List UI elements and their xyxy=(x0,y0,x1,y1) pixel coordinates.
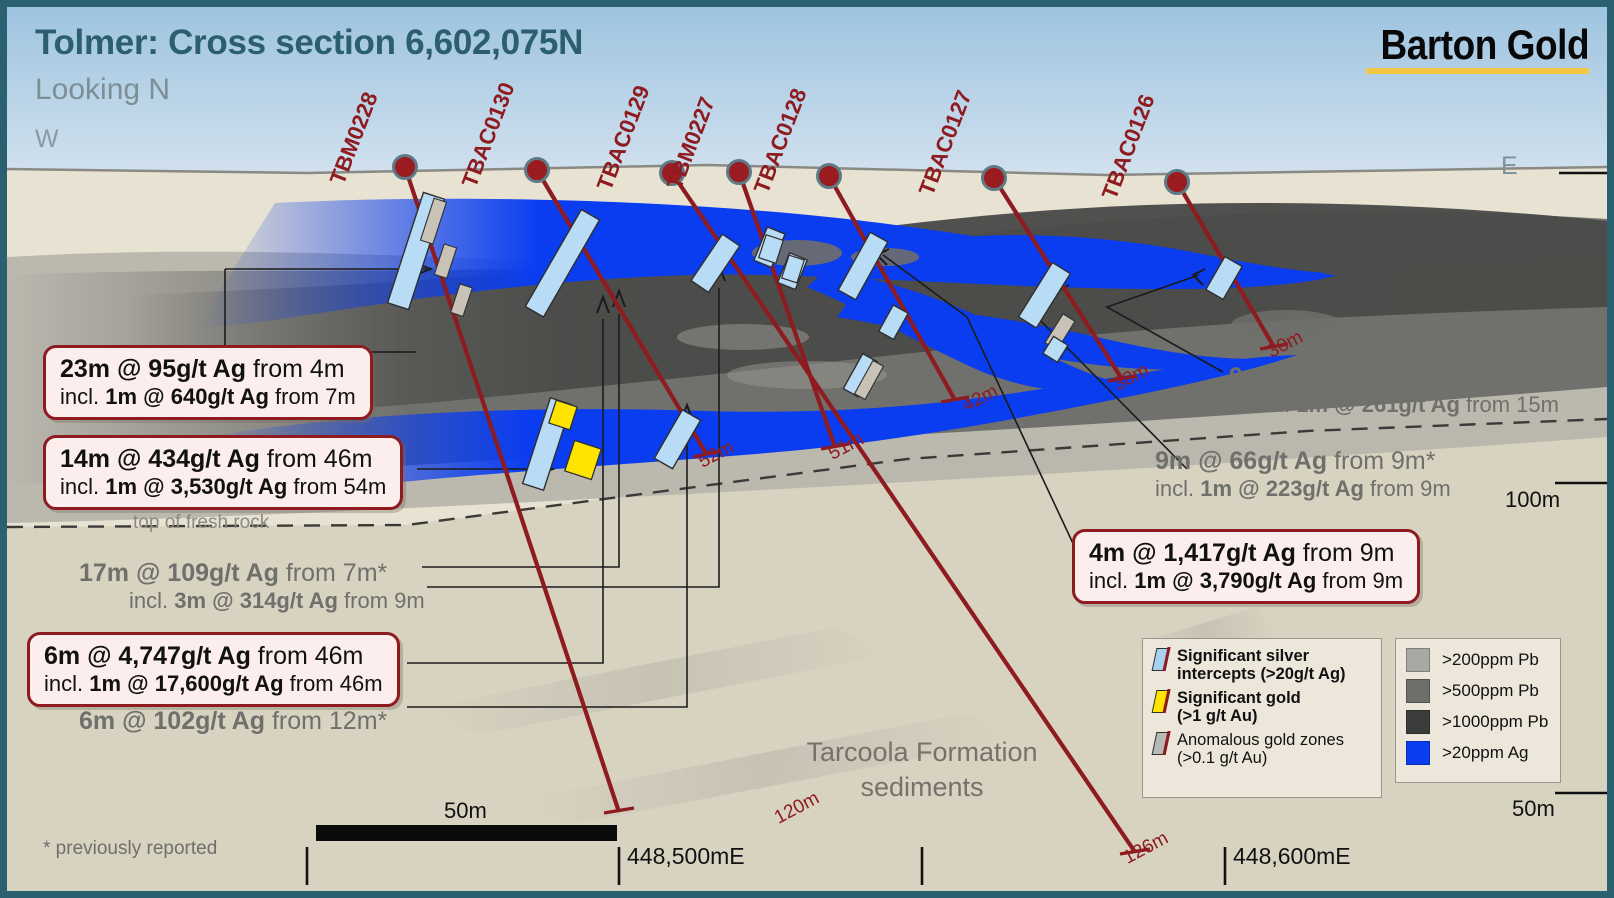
formation-label-line1: Tarcoola Formation xyxy=(797,735,1047,770)
gray-1-bold: 17m @ 109g/t Ag xyxy=(79,559,279,587)
gray-annotation-4: 9m @ 66g/t Ag from 9m* incl. 1m @ 223g/t… xyxy=(1155,447,1451,501)
swatch-500ppm-pb xyxy=(1406,679,1430,703)
callout-3-pre: incl. xyxy=(44,671,89,696)
callout-4-incl-bold: 1m @ 3,790g/t Ag xyxy=(1134,568,1316,593)
gray-annotation-3: 9m @ 59g/t Ag from 15m* incl. 1m @ 261g/… xyxy=(1229,363,1559,417)
gray-3-pre: incl. xyxy=(1251,392,1296,417)
cross-section-figure: Tolmer: Cross section 6,602,075N Looking… xyxy=(0,0,1614,898)
legend-label-1000pb: >1000ppm Pb xyxy=(1442,712,1548,732)
legend-item-anomalous: Anomalous gold zones (>0.1 g/t Au) xyxy=(1153,731,1371,768)
west-direction-label: W xyxy=(35,125,59,154)
callout-2-rest: from 46m xyxy=(260,445,373,473)
legend-gold-line1: Significant gold xyxy=(1177,689,1301,707)
callout-3-rest: from 46m xyxy=(251,642,364,670)
east-direction-label: E xyxy=(1501,152,1518,181)
legend-geochem-colors: >200ppm Pb >500ppm Pb >1000ppm Pb >20ppm… xyxy=(1395,638,1561,783)
legend-item-silver: Significant silver intercepts (>20g/t Ag… xyxy=(1153,647,1371,684)
callout-4-bold: 4m @ 1,417g/t Ag xyxy=(1089,539,1296,567)
legend-silver-line1: Significant silver xyxy=(1177,647,1309,665)
page-subtitle: Looking N xyxy=(35,73,170,107)
legend-silver-line2: intercepts (>20g/t Ag) xyxy=(1177,665,1346,683)
swatch-1000ppm-pb xyxy=(1406,710,1430,734)
scale-bar-label: 50m xyxy=(444,798,487,824)
easting-label-left: 448,500mE xyxy=(627,843,745,870)
gray-1-rest: from 7m* xyxy=(279,559,387,587)
gray-4-incl-bold: 1m @ 223g/t Ag xyxy=(1200,476,1364,501)
legend-gold-line2: (>1 g/t Au) xyxy=(1177,707,1258,725)
gray-4-pre: incl. xyxy=(1155,476,1200,501)
callout-2-pre: incl. xyxy=(60,474,105,499)
title-rest: Cross section 6,602,075N xyxy=(159,23,583,62)
legend-symbols: Significant silver intercepts (>20g/t Ag… xyxy=(1142,638,1382,798)
gray-3-incl-bold: 1m @ 261g/t Ag xyxy=(1296,392,1460,417)
gold-intercept-icon xyxy=(1153,690,1170,714)
page-title: Tolmer: Cross section 6,602,075N xyxy=(35,23,583,63)
callout-1-incl-rest: from 7m xyxy=(269,384,356,409)
callout-4-incl-rest: from 9m xyxy=(1316,568,1403,593)
title-bold: Tolmer: xyxy=(35,23,159,62)
gray-3-incl-rest: from 15m xyxy=(1460,392,1559,417)
callout-box-1: 23m @ 95g/t Ag from 4m incl. 1m @ 640g/t… xyxy=(43,345,373,420)
formation-label-line2: sediments xyxy=(797,770,1047,805)
gray-annotation-1: 17m @ 109g/t Ag from 7m* incl. 3m @ 314g… xyxy=(79,559,425,613)
legend-label-500pb: >500ppm Pb xyxy=(1442,681,1539,701)
swatch-20ppm-ag xyxy=(1406,741,1430,765)
easting-label-right: 448,600mE xyxy=(1233,843,1351,870)
legend-color-1000pb: >1000ppm Pb xyxy=(1406,710,1550,734)
gray-3-bold: 9m @ 59g/t Ag xyxy=(1229,363,1401,391)
company-logo: Barton Gold xyxy=(1352,21,1589,74)
silver-intercept-icon xyxy=(1153,648,1170,672)
footnote-previously-reported: * previously reported xyxy=(43,838,217,860)
gray-2-bold: 6m @ 102g/t Ag xyxy=(79,707,265,735)
callout-3-incl-rest: from 46m xyxy=(284,671,383,696)
legend-anom-line2: (>0.1 g/t Au) xyxy=(1177,749,1267,767)
gray-4-rest: from 9m* xyxy=(1327,447,1435,475)
callout-2-incl-rest: from 54m xyxy=(287,474,386,499)
callout-1-pre: incl. xyxy=(60,384,105,409)
anomalous-gold-icon xyxy=(1153,732,1170,756)
gray-annotation-2: 6m @ 102g/t Ag from 12m* xyxy=(79,707,387,736)
gray-4-incl-rest: from 9m xyxy=(1364,476,1451,501)
callout-box-2: 14m @ 434g/t Ag from 46m incl. 1m @ 3,53… xyxy=(43,435,403,510)
callout-4-rest: from 9m xyxy=(1296,539,1395,567)
gray-1-incl-bold: 3m @ 314g/t Ag xyxy=(174,588,338,613)
callout-3-bold: 6m @ 4,747g/t Ag xyxy=(44,642,251,670)
legend-anom-line1: Anomalous gold zones xyxy=(1177,731,1344,749)
gray-1-incl-rest: from 9m xyxy=(338,588,425,613)
callout-box-4: 4m @ 1,417g/t Ag from 9m incl. 1m @ 3,79… xyxy=(1072,529,1420,604)
gray-2-rest: from 12m* xyxy=(265,707,387,735)
callout-2-incl-bold: 1m @ 3,530g/t Ag xyxy=(105,474,287,499)
callout-4-pre: incl. xyxy=(1089,568,1134,593)
legend-color-500pb: >500ppm Pb xyxy=(1406,679,1550,703)
callout-1-incl-bold: 1m @ 640g/t Ag xyxy=(105,384,269,409)
legend-item-gold: Significant gold (>1 g/t Au) xyxy=(1153,689,1371,726)
legend-label-20ag: >20ppm Ag xyxy=(1442,743,1529,763)
gray-3-rest: from 15m* xyxy=(1401,363,1523,391)
legend-label-200pb: >200ppm Pb xyxy=(1442,650,1539,670)
callout-1-rest: from 4m xyxy=(246,355,345,383)
swatch-200ppm-pb xyxy=(1406,648,1430,672)
scale-bar xyxy=(316,825,617,841)
fresh-rock-label: top of fresh rock xyxy=(133,512,269,534)
callout-box-3: 6m @ 4,747g/t Ag from 46m incl. 1m @ 17,… xyxy=(27,632,400,707)
callout-1-bold: 23m @ 95g/t Ag xyxy=(60,355,246,383)
callout-2-bold: 14m @ 434g/t Ag xyxy=(60,445,260,473)
logo-text: Barton Gold xyxy=(1380,21,1589,69)
gray-4-bold: 9m @ 66g/t Ag xyxy=(1155,447,1327,475)
legend-color-200pb: >200ppm Pb xyxy=(1406,648,1550,672)
elevation-label-100m: 100m xyxy=(1505,487,1560,513)
gray-1-pre: incl. xyxy=(129,588,174,613)
callout-3-incl-bold: 1m @ 17,600g/t Ag xyxy=(89,671,283,696)
elevation-label-50m: 50m xyxy=(1512,796,1555,822)
formation-label: Tarcoola Formation sediments xyxy=(797,735,1047,804)
legend-color-20ag: >20ppm Ag xyxy=(1406,741,1550,765)
